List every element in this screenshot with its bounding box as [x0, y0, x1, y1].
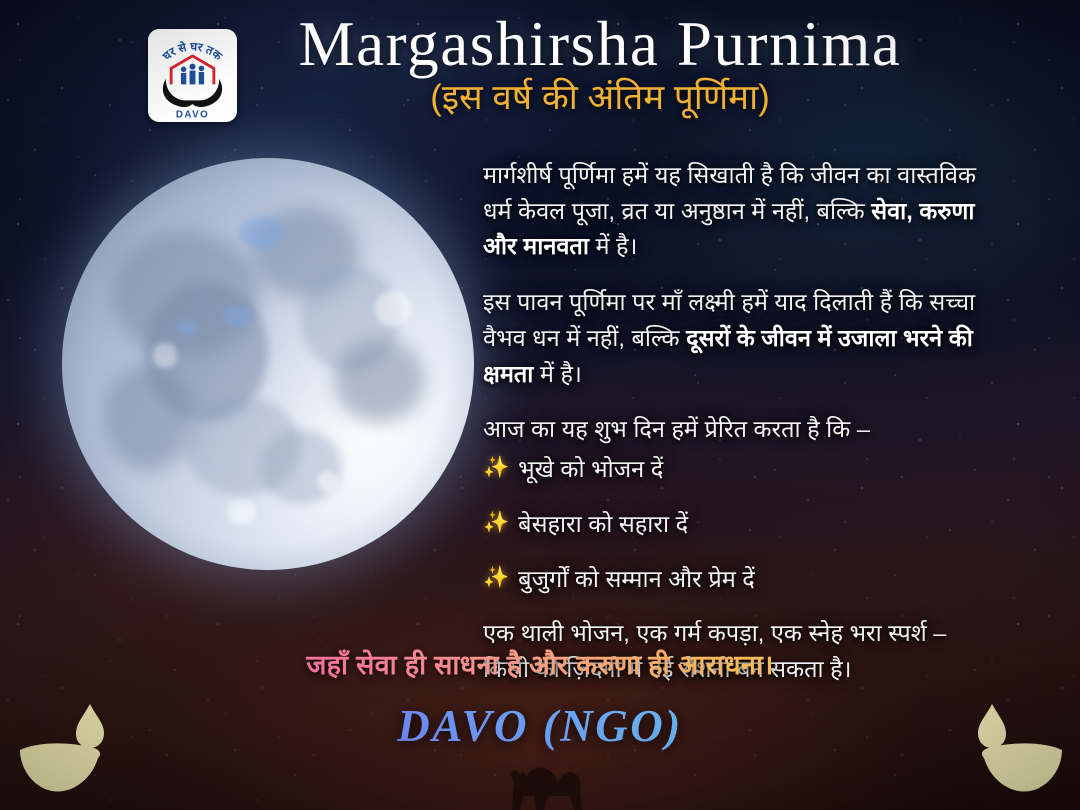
paragraph-1: मार्गशीर्ष पूर्णिमा हमें यह सिखाती है कि… [483, 158, 988, 265]
title-block: Margashirsha Purnima (इस वर्ष की अंतिम प… [250, 12, 950, 117]
moon-disc [62, 158, 474, 570]
svg-text:DAVO: DAVO [176, 109, 209, 120]
paragraph-2-after: में है। [533, 361, 582, 387]
sparkle-icon: ✨ [483, 452, 509, 485]
list-item: ✨ बुजुर्गों को सम्मान और प्रेम दें [483, 562, 988, 597]
footer-tagline: जहाँ सेवा ही साधना है और करुणा ही आराधना… [0, 645, 1080, 682]
brand-name: DAVO (NGO) [0, 700, 1080, 752]
poster-canvas: घर से घर तक DAVO Margashirsha Purnima (इ… [0, 0, 1080, 810]
page-title: Margashirsha Purnima [250, 12, 950, 76]
diya-lamp-left-icon [16, 698, 144, 802]
list-item-label: बेसहारा को सहारा दें [518, 507, 688, 542]
diya-lamp-right-icon [938, 698, 1066, 802]
paragraph-1-after: में है। [589, 233, 638, 259]
list-item: ✨ भूखे को भोजन दें [483, 452, 988, 487]
sparkle-icon: ✨ [483, 507, 509, 540]
camel-silhouette-icon [470, 752, 600, 810]
action-list: ✨ भूखे को भोजन दें ✨ बेसहारा को सहारा दे… [483, 452, 988, 596]
list-item-label: भूखे को भोजन दें [518, 452, 663, 487]
call-to-action-intro: आज का यह शुभ दिन हमें प्रेरित करता है कि… [483, 412, 988, 448]
page-subtitle: (इस वर्ष की अंतिम पूर्णिमा) [250, 78, 950, 117]
moon-shading [62, 158, 474, 570]
davo-logo: घर से घर तक DAVO [148, 29, 237, 122]
svg-text:घर से घर तक: घर से घर तक [160, 40, 224, 64]
sparkle-icon: ✨ [483, 562, 509, 595]
paragraph-2: इस पावन पूर्णिमा पर माँ लक्ष्मी हमें याद… [483, 285, 988, 392]
list-item: ✨ बेसहारा को सहारा दें [483, 507, 988, 542]
full-moon [62, 158, 474, 570]
list-item-label: बुजुर्गों को सम्मान और प्रेम दें [518, 562, 755, 597]
body-copy: मार्गशीर्ष पूर्णिमा हमें यह सिखाती है कि… [483, 158, 988, 688]
